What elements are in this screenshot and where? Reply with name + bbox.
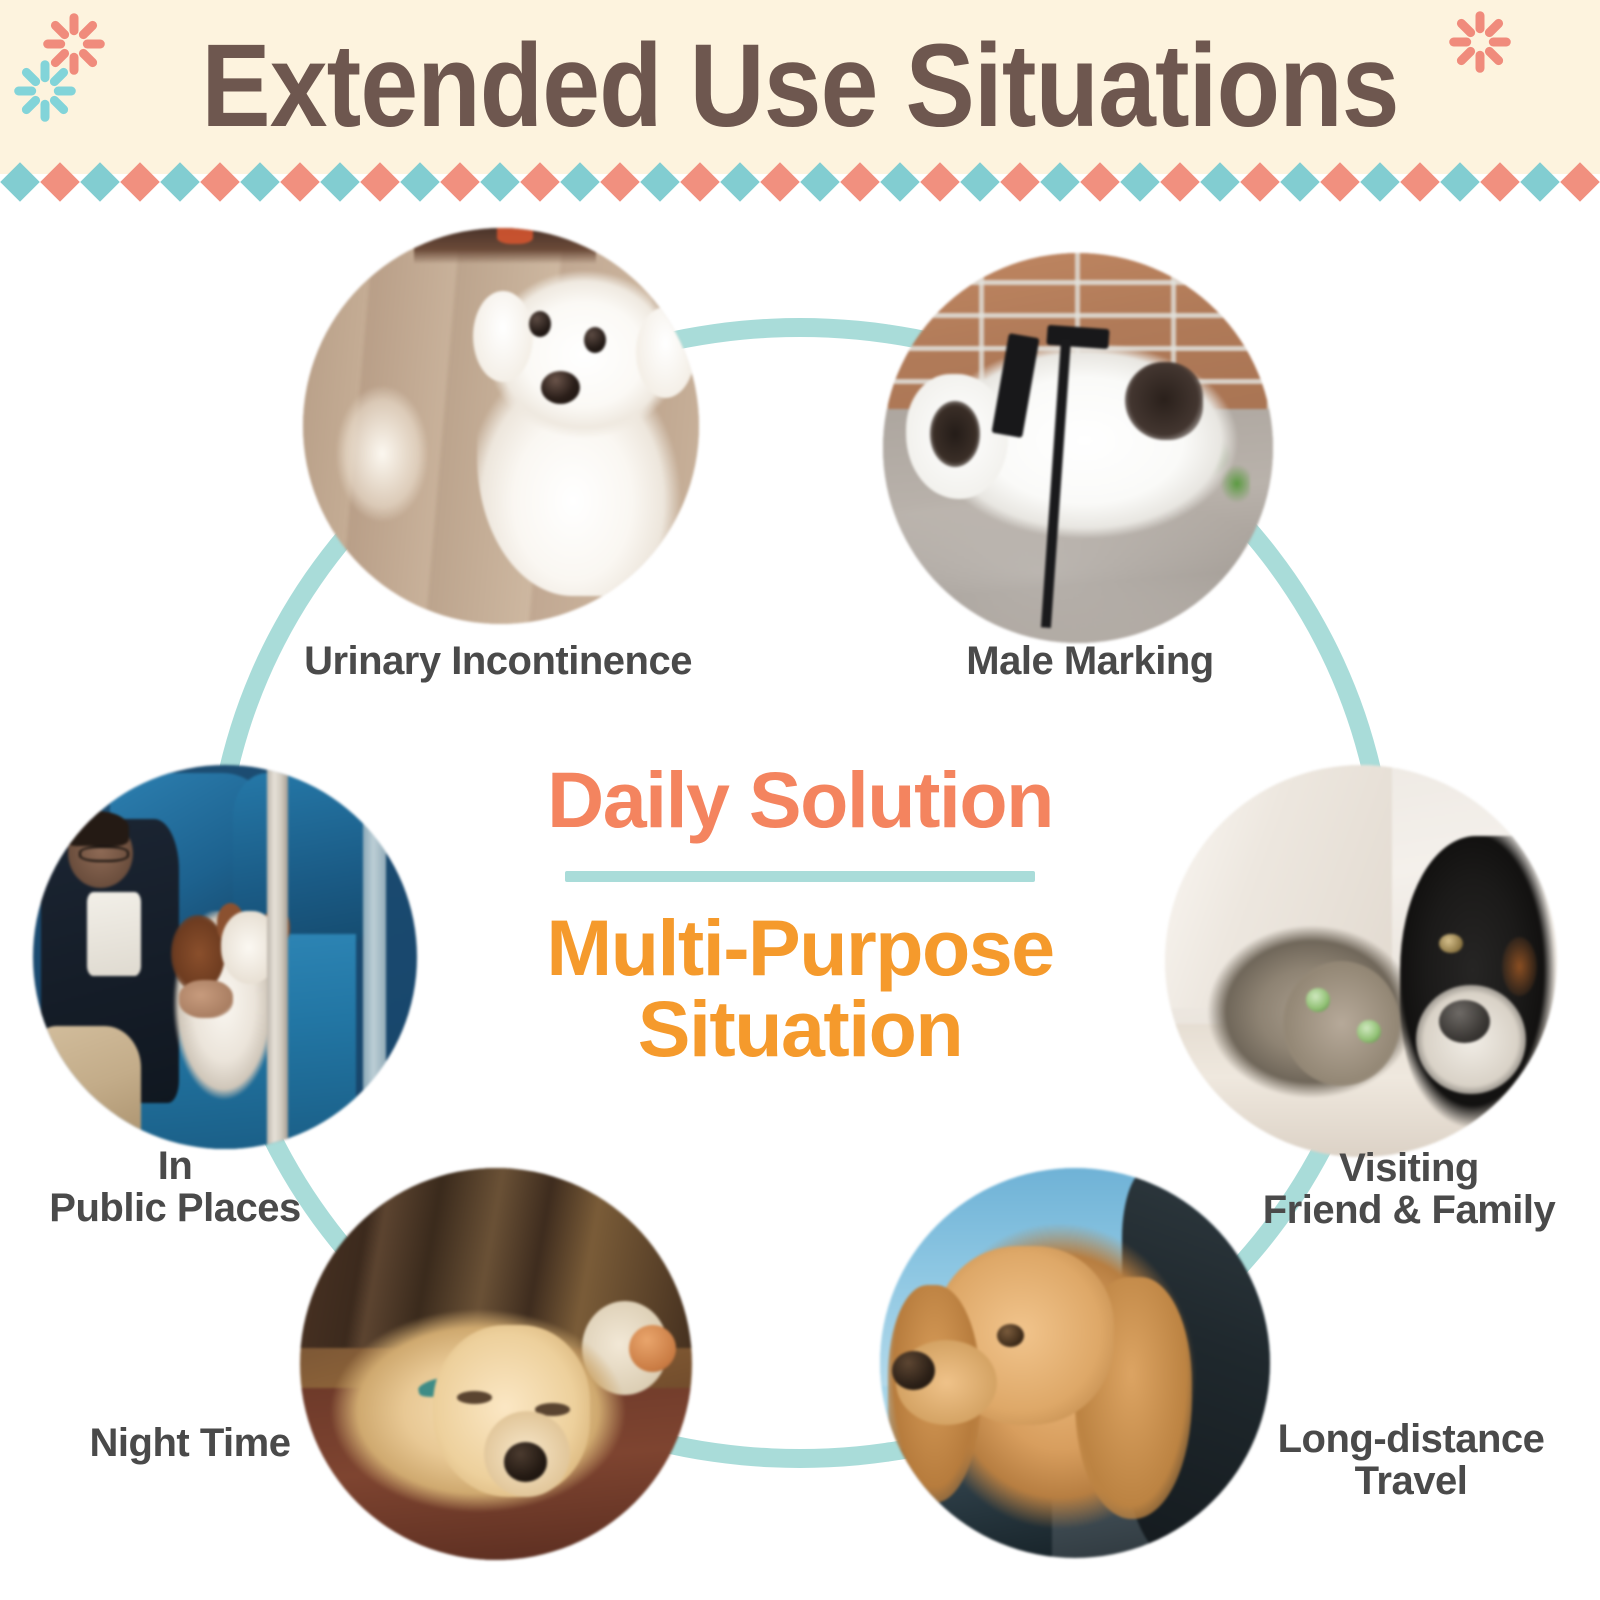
diamond-divider	[0, 160, 1600, 206]
situation-urinary-incontinence[interactable]	[303, 228, 699, 624]
photo-urinary-incontinence	[303, 228, 699, 624]
label-visiting-friend-family: Visiting Friend & Family	[1218, 1148, 1600, 1231]
situation-night-time[interactable]	[300, 1168, 692, 1560]
photo-in-public-places	[33, 765, 417, 1149]
sparkle-coral-right-icon	[1444, 6, 1516, 78]
label-urinary-incontinence: Urinary Incontinence	[283, 641, 713, 683]
situation-male-marking[interactable]	[883, 253, 1273, 643]
photo-visiting-friend-family	[1165, 765, 1557, 1157]
situation-in-public-places[interactable]	[33, 765, 417, 1149]
headline-multi-purpose: Multi-Purpose Situation	[430, 908, 1170, 1069]
photo-male-marking	[883, 253, 1273, 643]
situation-long-distance-travel[interactable]	[880, 1168, 1270, 1558]
label-night-time: Night Time	[40, 1423, 340, 1465]
headline-daily-solution: Daily Solution	[430, 760, 1170, 839]
center-message: Daily Solution Multi-Purpose Situation	[430, 760, 1170, 1069]
situation-visiting-friend-family[interactable]	[1165, 765, 1557, 1157]
sparkle-teal-icon	[14, 60, 76, 122]
page-header: Extended Use Situations	[0, 0, 1600, 165]
page-title: Extended Use Situations	[96, 0, 1504, 165]
photo-night-time	[300, 1168, 692, 1560]
infographic-page: Extended Use Situations	[0, 0, 1600, 1600]
label-long-distance-travel: Long-distance Travel	[1222, 1419, 1600, 1502]
headline-divider	[565, 871, 1035, 882]
label-in-public-places: In Public Places	[10, 1146, 340, 1229]
label-male-marking: Male Marking	[905, 641, 1275, 683]
photo-long-distance-travel	[880, 1168, 1270, 1558]
